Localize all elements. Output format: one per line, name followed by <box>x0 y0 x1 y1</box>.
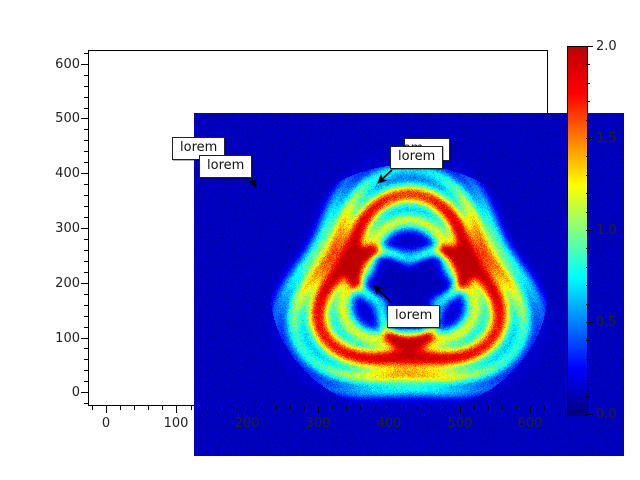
plot-axes-frame <box>88 50 548 406</box>
axis-tick-label: 500 <box>36 112 80 125</box>
axis-tick <box>304 406 305 410</box>
axis-tick <box>84 305 88 306</box>
axis-tick-label: 500 <box>438 417 482 430</box>
colorbar-minor-tick <box>586 193 590 194</box>
axis-tick-label: 400 <box>367 417 411 430</box>
colorbar-tick-label: 0.0 <box>596 408 617 421</box>
axis-tick <box>81 64 88 65</box>
axis-tick <box>84 97 88 98</box>
colorbar-minor-tick <box>586 267 590 268</box>
colorbar-gradient <box>567 46 588 416</box>
axis-tick <box>84 140 88 141</box>
axis-tick <box>84 151 88 152</box>
axis-tick-label: 600 <box>36 58 80 71</box>
axis-tick <box>290 406 291 410</box>
axis-tick <box>84 348 88 349</box>
axis-tick <box>445 406 446 410</box>
axis-tick <box>84 359 88 360</box>
axis-tick <box>84 184 88 185</box>
colorbar-minor-tick <box>586 340 590 341</box>
colorbar-tick-label: 1.5 <box>596 132 617 145</box>
colorbar-tick <box>586 414 593 415</box>
axis-tick <box>191 406 192 410</box>
axis-tick <box>84 217 88 218</box>
axis-tick <box>389 406 390 413</box>
colorbar-tick <box>586 138 593 139</box>
axis-tick <box>84 108 88 109</box>
colorbar-minor-tick <box>586 101 590 102</box>
axis-tick <box>84 250 88 251</box>
axis-tick <box>360 406 361 410</box>
colorbar-tick <box>586 46 593 47</box>
annotation-label-upper-left-front[interactable]: lorem <box>199 155 252 178</box>
annotation-text: lorem <box>395 308 432 323</box>
axis-tick <box>120 406 121 410</box>
colorbar-tick-label: 0.5 <box>596 316 617 329</box>
axis-tick <box>81 338 88 339</box>
axis-tick <box>205 406 206 410</box>
axis-tick <box>162 406 163 410</box>
axis-tick-label: 200 <box>36 277 80 290</box>
axis-tick <box>81 392 88 393</box>
axis-tick <box>84 327 88 328</box>
axis-tick <box>346 406 347 410</box>
axis-tick-label: 400 <box>36 167 80 180</box>
colorbar-minor-tick <box>586 83 590 84</box>
axis-tick <box>84 206 88 207</box>
axis-tick <box>431 406 432 410</box>
colorbar-tick <box>586 322 593 323</box>
axis-tick <box>84 195 88 196</box>
axis-tick <box>84 86 88 87</box>
colorbar-minor-tick <box>586 304 590 305</box>
axis-tick <box>502 406 503 410</box>
axis-tick <box>176 406 177 413</box>
axis-tick <box>84 261 88 262</box>
axis-tick <box>261 406 262 410</box>
axis-tick <box>81 118 88 119</box>
axis-tick <box>530 406 531 413</box>
axis-tick <box>84 294 88 295</box>
axis-tick <box>84 53 88 54</box>
annotation-text: lorem <box>180 140 217 155</box>
axis-tick <box>247 406 248 413</box>
axis-tick <box>81 283 88 284</box>
axis-tick-label: 300 <box>36 222 80 235</box>
axis-tick <box>81 173 88 174</box>
axis-tick <box>84 162 88 163</box>
colorbar-tick-label: 1.0 <box>596 224 617 237</box>
colorbar <box>567 46 586 414</box>
annotation-text: lorem <box>398 149 435 164</box>
colorbar-minor-tick <box>586 248 590 249</box>
colorbar-minor-tick <box>586 285 590 286</box>
axis-tick-label: 300 <box>296 417 340 430</box>
axis-tick <box>84 272 88 273</box>
axis-tick <box>276 406 277 410</box>
colorbar-minor-tick <box>586 359 590 360</box>
axis-tick <box>84 129 88 130</box>
axis-tick-label: 0 <box>36 386 80 399</box>
colorbar-minor-tick <box>586 175 590 176</box>
axis-tick-label: 100 <box>36 332 80 345</box>
axis-tick <box>474 406 475 410</box>
axis-tick <box>84 239 88 240</box>
axis-tick <box>516 406 517 410</box>
colorbar-minor-tick <box>586 156 590 157</box>
axis-tick <box>460 406 461 413</box>
axis-tick-label: 200 <box>225 417 269 430</box>
colorbar-tick <box>586 230 593 231</box>
axis-tick <box>84 370 88 371</box>
axis-tick <box>81 228 88 229</box>
annotation-label-bottom[interactable]: lorem <box>387 305 440 328</box>
axis-tick <box>219 406 220 410</box>
colorbar-tick-label: 2.0 <box>596 40 617 53</box>
axis-tick-label: 600 <box>508 417 552 430</box>
axis-tick <box>417 406 418 410</box>
axis-tick <box>84 381 88 382</box>
figure-canvas: 01002003004005006000100200300400500600 0… <box>0 0 640 480</box>
axis-tick <box>544 406 545 410</box>
axis-tick <box>92 406 93 410</box>
axis-tick <box>148 406 149 410</box>
axis-tick <box>106 406 107 413</box>
colorbar-minor-tick <box>586 120 590 121</box>
axis-tick <box>375 406 376 410</box>
axis-tick <box>488 406 489 410</box>
colorbar-minor-tick <box>586 64 590 65</box>
axis-tick <box>84 316 88 317</box>
colorbar-minor-tick <box>586 396 590 397</box>
colorbar-minor-tick <box>586 377 590 378</box>
axis-tick <box>84 403 88 404</box>
axis-tick <box>134 406 135 410</box>
colorbar-minor-tick <box>586 212 590 213</box>
axis-tick-label: 100 <box>154 417 198 430</box>
axis-tick <box>233 406 234 410</box>
axis-tick <box>84 75 88 76</box>
axis-tick <box>318 406 319 413</box>
axis-tick-label: 0 <box>84 417 128 430</box>
annotation-text: lorem <box>207 158 244 173</box>
axis-tick <box>332 406 333 410</box>
axis-tick <box>403 406 404 410</box>
annotation-label-upper-right-front[interactable]: lorem <box>390 146 443 169</box>
